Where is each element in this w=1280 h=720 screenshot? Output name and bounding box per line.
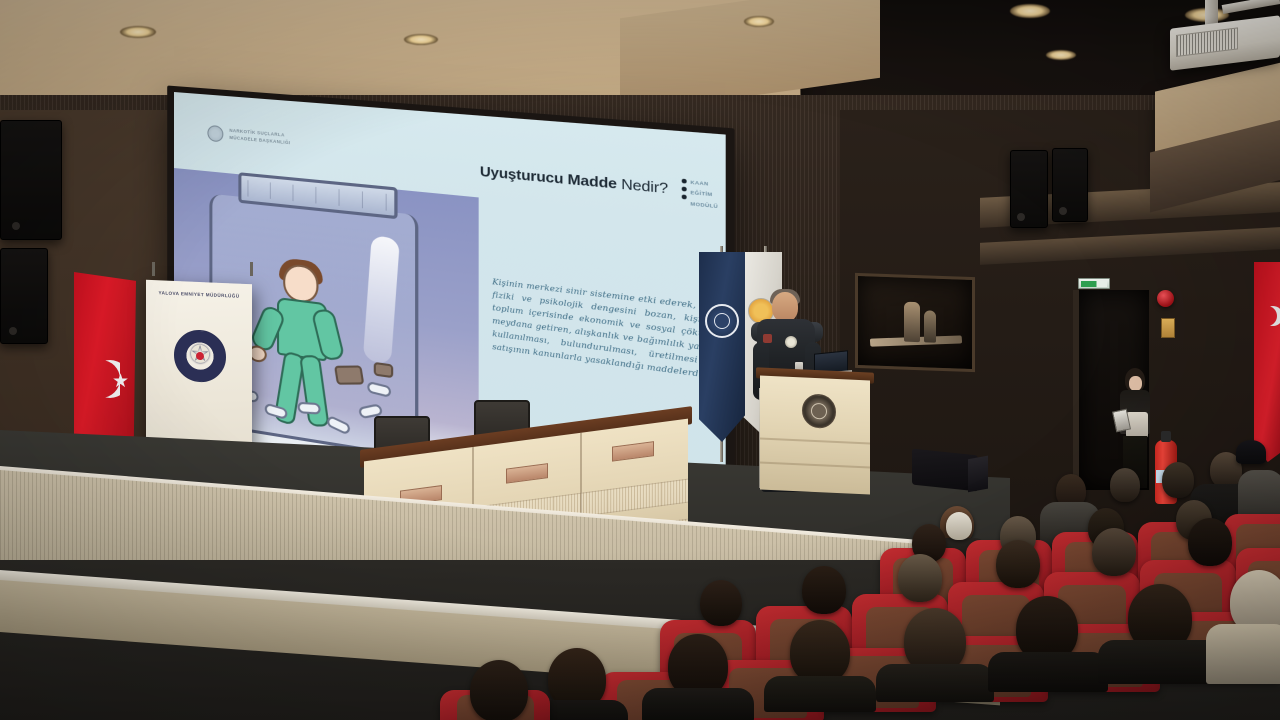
audience-body	[1206, 624, 1280, 684]
rubble-1	[334, 365, 364, 384]
panel-nameplate-2	[506, 463, 548, 484]
wall-speaker-left-2	[0, 248, 48, 344]
banner-leg-right	[250, 262, 253, 276]
audience-body	[988, 652, 1108, 692]
audience-head	[946, 512, 972, 540]
emblem-center-dot	[196, 352, 204, 360]
banner-arc-text: YALOVA EMNİYET MÜDÜRLÜĞÜ	[159, 290, 240, 298]
downlight-1	[120, 26, 156, 38]
picture-figure-2	[924, 310, 936, 342]
downlight-7	[1046, 50, 1076, 60]
pill-3	[297, 402, 321, 415]
kaan-line-2: EĞİTİM	[690, 190, 712, 198]
downlight-3	[744, 16, 774, 27]
podium-front-panel	[760, 376, 870, 495]
rubble-2	[374, 362, 393, 378]
institutional-flag-emblem-icon	[705, 304, 739, 338]
doorway-person-face	[1129, 376, 1142, 391]
exit-sign-icon	[1078, 278, 1110, 289]
audience-head	[996, 540, 1040, 588]
audience-head	[898, 554, 942, 602]
podium-crest-icon	[802, 393, 836, 429]
audience-head	[1188, 518, 1232, 566]
kaan-line-1: KAAN	[690, 179, 708, 186]
picture-figure-1	[904, 302, 920, 343]
turkish-flag-right	[1254, 262, 1280, 462]
panel-nameplate-3	[612, 441, 654, 462]
star-icon: ★	[112, 372, 129, 391]
stage-monitor-right-face	[968, 456, 988, 493]
narcotics-crest-icon	[207, 125, 223, 143]
jar-highlight	[363, 235, 400, 365]
presenter-head	[772, 292, 798, 322]
wall-speaker-right-2	[1052, 148, 1088, 222]
fire-equipment-sign-icon	[1161, 318, 1175, 338]
kaan-dots-icon	[682, 176, 687, 199]
projector-vent-grille	[1176, 27, 1238, 57]
banner-leg-left	[152, 262, 155, 276]
audience-head	[1110, 468, 1140, 502]
kaan-line-3: MODÜLÜ	[690, 201, 718, 209]
police-emblem-icon: ✪	[174, 329, 226, 383]
auditorium-photo: NARKOTİK SUÇLARLA MÜCADELE BAŞKANLIĞI Uy…	[0, 0, 1280, 720]
fire-alarm-bell-icon[interactable]	[1157, 290, 1174, 307]
figure-leg-right	[299, 355, 330, 426]
crescent-icon-right	[1257, 306, 1277, 326]
presenter-shoulder-patch	[763, 334, 772, 343]
podium-seam-2	[760, 462, 870, 469]
audience-head	[1236, 440, 1266, 464]
audience-head	[1162, 462, 1194, 498]
podium-seam-1	[760, 438, 870, 445]
wall-speaker-left	[0, 120, 62, 240]
audience-head	[802, 566, 846, 614]
pill-6	[367, 381, 392, 398]
kaan-words: KAAN EĞİTİM MODÜLÜ	[690, 177, 718, 212]
audience-body	[764, 676, 876, 712]
downlight-2	[404, 34, 438, 45]
wall-speaker-right-1	[1010, 150, 1048, 228]
institutional-flag	[699, 252, 745, 442]
audience-body	[876, 664, 994, 702]
figure-legs	[277, 350, 329, 432]
audience-head	[1092, 528, 1136, 576]
kaan-module-mark: KAAN EĞİTİM MODÜLÜ	[682, 176, 718, 211]
presenter-badge-icon	[785, 336, 797, 348]
stage-monitor-right	[912, 449, 978, 492]
audience-head	[470, 660, 528, 720]
audience-body	[642, 688, 754, 720]
framed-wall-picture	[855, 273, 975, 372]
podium	[760, 370, 870, 492]
audience-head	[700, 580, 742, 626]
downlight-4	[1010, 4, 1050, 18]
audience-head	[790, 620, 850, 684]
